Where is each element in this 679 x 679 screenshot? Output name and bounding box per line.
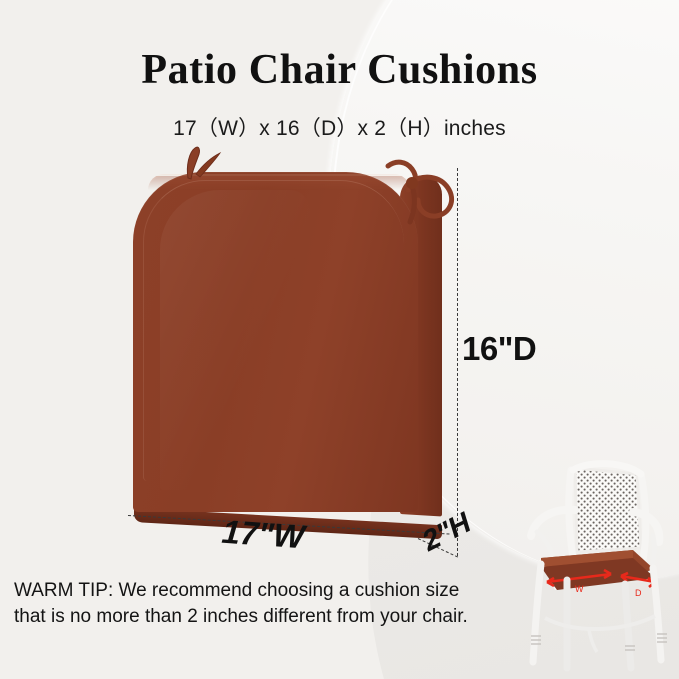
depth-label: 16"D	[462, 330, 536, 368]
cushion-highlight	[160, 190, 310, 490]
dimensions-subtitle: 17（W）x 16（D）x 2（H）inches	[0, 112, 679, 142]
warm-tip-text: WARM TIP: We recommend choosing a cushio…	[14, 578, 494, 629]
depth-guide-line	[457, 168, 458, 556]
chair-inset-photo: W D	[505, 440, 679, 679]
page-title: Patio Chair Cushions	[0, 48, 679, 92]
cushion-illustration	[120, 150, 480, 550]
product-infographic: Patio Chair Cushions 17（W）x 16（D）x 2（H）i…	[0, 0, 679, 679]
cushion-tie-bow-right-icon	[382, 152, 482, 252]
cushion-tie-left-icon	[176, 144, 222, 184]
chair-arrow-label-w: W	[575, 584, 584, 594]
chair-arrow-label-d: D	[635, 588, 642, 598]
width-label: 17"W	[217, 513, 309, 556]
